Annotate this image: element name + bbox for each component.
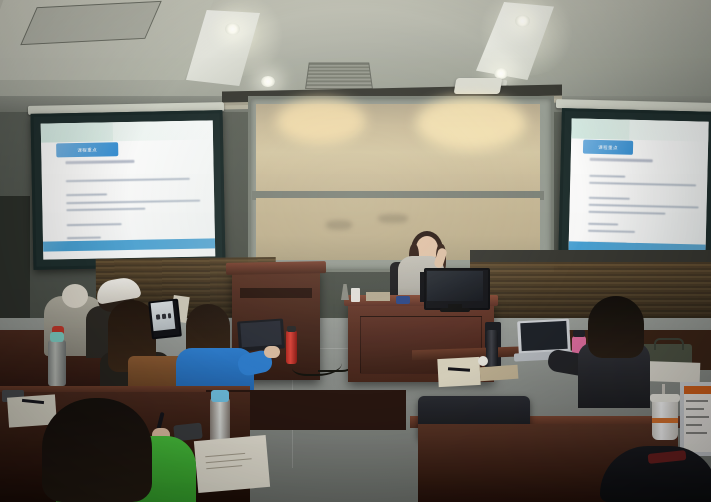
cup-lid [650,394,680,402]
slide-text-line [589,210,666,214]
headphones-icon [448,424,488,458]
left-screen-surface: 课程重点 [41,120,216,259]
notebook-line [205,453,245,457]
spotlight-icon [515,15,530,27]
bottle-cap-blue [211,390,229,402]
projector-icon [454,78,503,94]
classroom-photo: 课程重点 课程重点 [0,0,711,502]
right-projection-screen[interactable]: 课程重点 [558,108,711,273]
doc-line [686,408,704,410]
slide-text-line [589,196,630,199]
laptop-right-screen [520,321,567,351]
slide-footer-bar [43,239,215,252]
spotlight-icon [261,76,275,87]
slide-badge: 课程重点 [583,140,633,155]
student-hand [264,346,280,358]
whiteboard-smudge [326,220,352,230]
podium-monitor-screen [427,271,483,301]
whiteboard-upper [256,104,540,192]
podium-blue-object [396,296,410,304]
slide-badge-label: 课程重点 [78,147,98,154]
green-jacket-hair [42,398,152,502]
slide-topbar-accent [41,122,114,142]
left-slide: 课程重点 [41,120,216,259]
lectern-top [226,261,326,275]
notebook [194,435,270,493]
left-projection-screen[interactable]: 课程重点 [31,110,226,270]
slide-text-line [589,182,696,187]
right-slide: 课程重点 [568,118,708,262]
air-vent-icon [305,62,373,89]
spotlight-icon [225,23,240,35]
foreground-laptop-screen [684,386,711,452]
doc-line [686,416,709,418]
slide-badge-label: 课程重点 [598,144,618,151]
cup-orange-band [652,418,678,423]
slide-text-line [589,203,699,208]
slide-text-line [66,193,107,196]
water-bottle-silver [48,340,66,386]
slide-text-line [67,223,122,226]
podium-box [366,292,390,301]
right-screen-surface: 课程重点 [568,118,708,262]
bottle-cap-teal [50,332,64,342]
student-dark-vest-hair [588,296,644,358]
slide-topbar-accent [571,118,629,139]
slide-text-line [588,223,618,226]
bottle-cap-dark [573,330,585,337]
light-splash [416,96,526,150]
small-ball [478,356,488,366]
slide-text-line [589,175,625,178]
slide-heading-line [590,158,653,163]
notebook-line [206,465,242,469]
whiteboard-smudge [378,214,408,223]
doc-line [686,400,708,402]
bottle-cap [287,326,296,332]
slide-text-line [67,237,101,240]
folder-right [480,365,519,382]
ceiling-hatch [20,1,161,45]
papers-right [648,361,701,383]
slide-text-line [66,207,145,211]
foreground-laptop-doc-header [684,386,711,394]
slide-text-line [66,199,200,204]
lectern-shelf [240,288,312,298]
floor-cable [292,350,342,376]
slide-badge: 课程重点 [57,143,119,158]
student-grey-coat-head [62,284,88,308]
left-wall-dark-panel [0,196,30,336]
slide-heading-line [66,160,135,164]
monitor-base [440,308,470,312]
bag-handle [654,338,684,350]
tablet-glyph [168,313,172,318]
slide-text-line [588,230,635,233]
tablet-glyph [162,314,167,319]
notebook-line [206,458,252,463]
tablet-glyph [156,314,161,319]
doc-line [686,424,702,426]
notepad-right [437,357,480,387]
light-splash [276,98,366,144]
laptop-left-screen [240,321,282,348]
slide-text-line [66,178,190,182]
podium-cup [351,288,360,302]
tablet-screen [151,301,176,331]
doc-line [686,432,707,434]
